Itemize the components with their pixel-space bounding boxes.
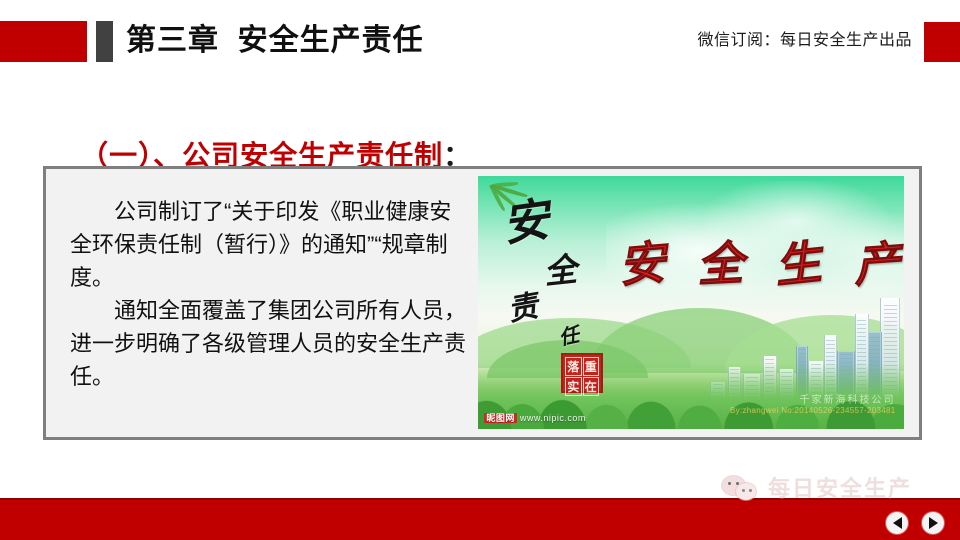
calligraphy-char: 产: [852, 240, 901, 289]
footer-bar: [0, 498, 960, 540]
watermark-badge: 昵图网: [484, 413, 517, 423]
seal-char: 实: [565, 377, 582, 396]
header-red-block-left: [0, 21, 87, 62]
prev-slide-button[interactable]: [886, 512, 908, 534]
seal-char: 在: [583, 377, 600, 396]
next-slide-button[interactable]: [922, 512, 944, 534]
calligraphy-char: 全: [542, 255, 578, 291]
calligraphy-char: 全: [696, 241, 744, 289]
calligraphy-char: 责: [505, 291, 540, 326]
calligraphy-char: 任: [557, 325, 581, 349]
seal-char: 落: [565, 357, 582, 376]
calligraphy-char: 生: [773, 239, 824, 290]
slide-canvas: 第三章 安全生产责任 微信订阅：每日安全生产出品 （一）、公司安全生产责任制： …: [0, 0, 960, 540]
slide-navigation: [886, 512, 944, 534]
body-paragraph-2: 通知全面覆盖了集团公司所有人员，进一步明确了各级管理人员的安全生产责任。: [70, 294, 470, 393]
poster-watermark-left: 昵图网www.nipic.com: [484, 411, 586, 424]
subscribe-note: 微信订阅：每日安全生产出品: [697, 30, 912, 52]
arrow-right-icon: [929, 517, 938, 529]
watermark-company: 千家新海科技公司: [730, 396, 895, 406]
watermark-id: By:zhangwei No:20140526-234557-203481: [730, 406, 895, 416]
safety-poster-image: 安 全 责 任 安 全 生 产 落 重 实 在 昵图网www.nipic.com…: [478, 176, 904, 429]
poster-calligraphy-red: 安 全 生 产: [619, 242, 900, 288]
body-text: 公司制订了“关于印发《职业健康安全环保责任制（暂行）》的通知”“规章制度。 通知…: [70, 195, 470, 393]
header-red-block-right: [924, 22, 960, 62]
seal-char: 重: [583, 357, 600, 376]
poster-watermark-right: 千家新海科技公司 By:zhangwei No:20140526-234557-…: [730, 396, 895, 416]
arrow-left-icon: [893, 517, 902, 529]
body-paragraph-1: 公司制订了“关于印发《职业健康安全环保责任制（暂行）》的通知”“规章制度。: [70, 195, 470, 294]
poster-red-seal: 落 重 实 在: [561, 353, 603, 393]
calligraphy-char: 安: [500, 197, 552, 249]
page-title: 第三章 安全生产责任: [126, 20, 424, 62]
watermark-url: www.nipic.com: [520, 413, 586, 423]
poster-calligraphy-black: 安 全 责 任: [495, 196, 623, 373]
header-gray-accent-bar: [96, 21, 113, 62]
calligraphy-char: 安: [617, 240, 667, 290]
